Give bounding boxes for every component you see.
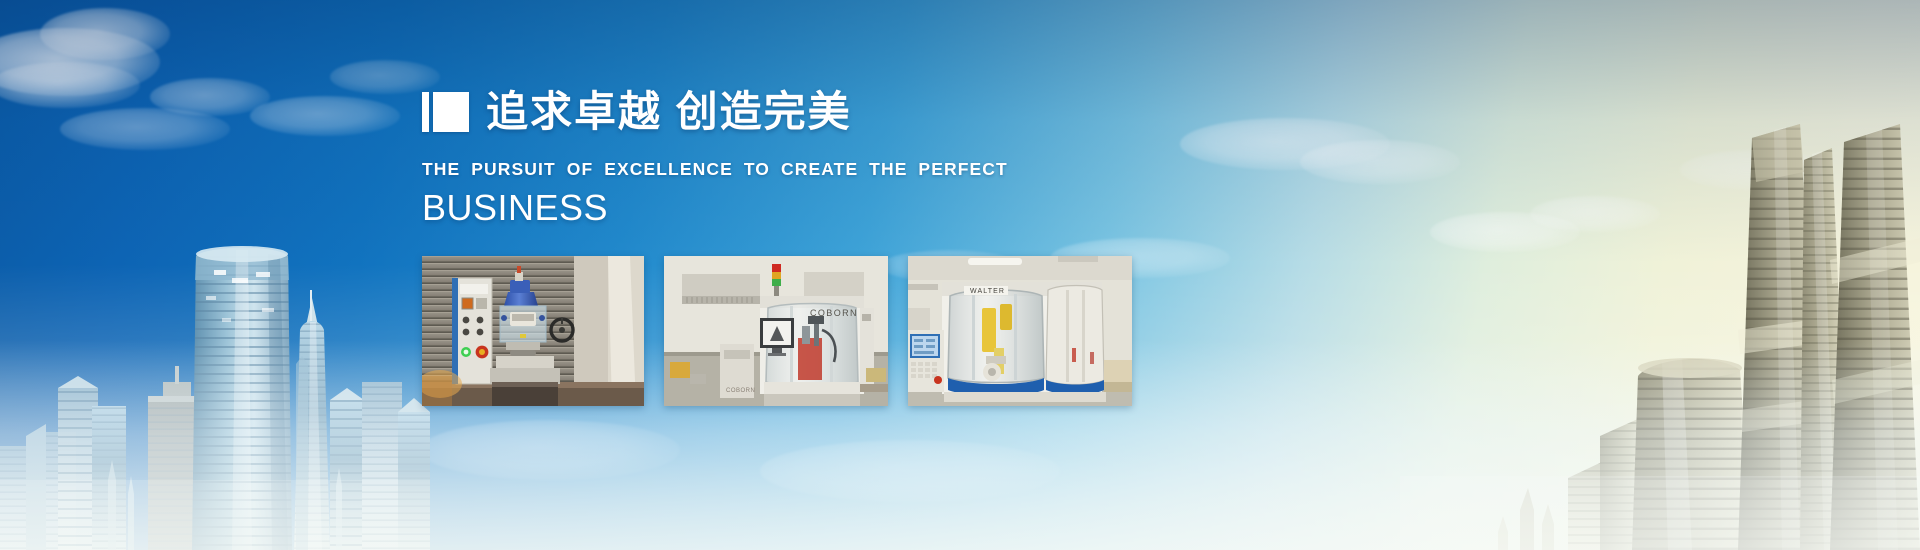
logo-bar-icon bbox=[422, 92, 429, 132]
walter-brand-label: WALTER bbox=[970, 288, 1005, 295]
photo-1-image bbox=[422, 256, 644, 406]
coborn-brand-label: COBORN bbox=[810, 308, 858, 318]
svg-text:COBORN: COBORN bbox=[726, 388, 755, 394]
photo-walter-tool-grinding-machine[interactable]: WALTER bbox=[908, 256, 1132, 406]
machine-photo-strip: COBORN COBORN bbox=[422, 256, 1132, 406]
logo-square-icon bbox=[433, 92, 469, 132]
photo-3-image: WALTER bbox=[908, 256, 1132, 406]
headline-row: 追求卓越 创造完美 bbox=[422, 86, 1142, 138]
photo-2-image: COBORN COBORN bbox=[664, 256, 888, 406]
banner-text-block: 追求卓越 创造完美 THE PURSUIT OF EXCELLENCE TO C… bbox=[422, 86, 1142, 228]
bar-square-logo-mark bbox=[422, 92, 469, 132]
business-word: BUSINESS bbox=[422, 188, 1142, 228]
headline-chinese: 追求卓越 创造完美 bbox=[486, 91, 852, 133]
hero-banner: 追求卓越 创造完美 THE PURSUIT OF EXCELLENCE TO C… bbox=[0, 0, 1920, 550]
photo-cnc-grinding-machine-control-panel[interactable] bbox=[422, 256, 644, 406]
photo-coborn-rotary-grinder[interactable]: COBORN COBORN bbox=[664, 256, 888, 406]
tagline-english: THE PURSUIT OF EXCELLENCE TO CREATE THE … bbox=[422, 159, 1142, 180]
